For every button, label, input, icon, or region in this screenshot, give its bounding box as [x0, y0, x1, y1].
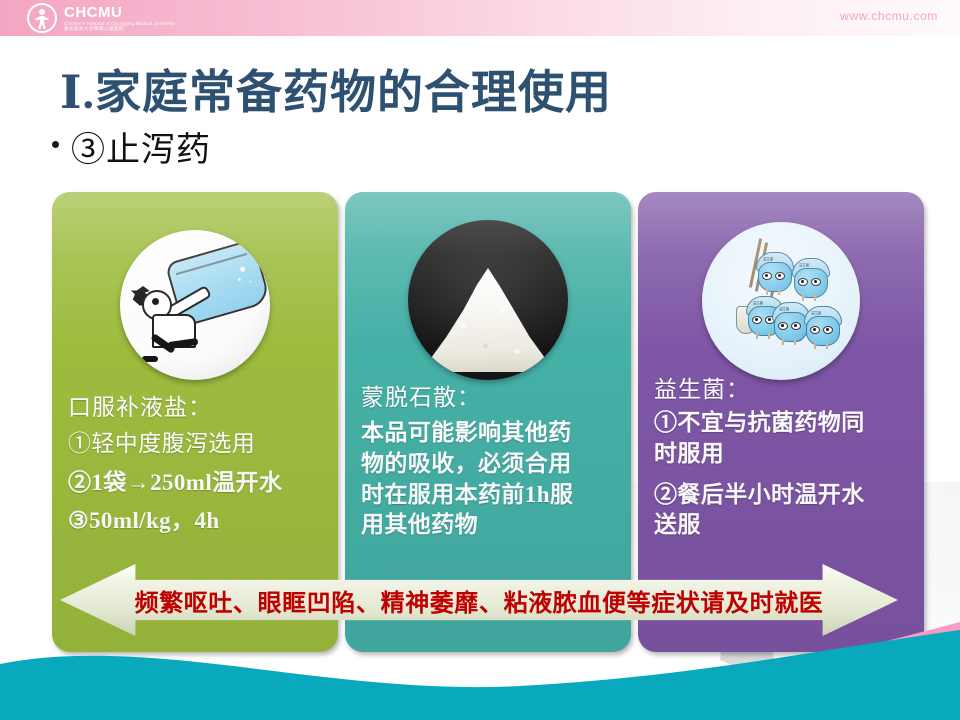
card-heading: 蒙脱石散：	[361, 378, 481, 412]
probiotic-soldiers-icon: 益生菌 益生菌 益生菌 益生菌	[702, 222, 860, 380]
card-line: 送服	[654, 510, 914, 541]
bullet-icon	[52, 141, 59, 148]
logo-sub-text-cn: 重庆医科大学附属儿童医院	[64, 27, 175, 32]
germ: 益生菌	[754, 250, 794, 292]
card-line: 本品可能影响其他药	[361, 418, 621, 449]
site-url: www.chcmu.com	[840, 9, 938, 23]
page-subtitle: ③止泻药	[71, 122, 211, 171]
germ: 益生菌	[790, 256, 830, 298]
germ-group: 益生菌 益生菌 益生菌 益生菌	[702, 222, 860, 380]
card-line: 时在服用本药前1h服	[361, 480, 621, 511]
card-heading: 口服补液盐：	[68, 388, 212, 422]
card-body: ①轻中度腹泻选用 ②1袋→250ml温开水 ③50ml/kg，4h	[68, 428, 328, 544]
slide-root: CHCMU Children's Hospital of Chongqing M…	[0, 0, 960, 720]
card-line: 用其他药物	[361, 510, 621, 541]
card-body: ①不宜与抗菌药物同 时服用 ②餐后半小时温开水 送服	[654, 408, 914, 541]
subtitle-row: ③止泻药	[52, 122, 211, 171]
white-powder-photo	[408, 220, 568, 380]
card-line: ①不宜与抗菌药物同	[654, 408, 914, 439]
banner-warning-text: 频繁呕吐、眼眶凹陷、精神萎靡、粘液脓血便等症状请及时就医	[60, 564, 898, 636]
card-line: ②1袋→250ml温开水	[68, 467, 328, 500]
card-heading: 益生菌：	[654, 370, 750, 404]
header-bar: CHCMU Children's Hospital of Chongqing M…	[0, 0, 960, 36]
card-line: 时服用	[654, 439, 914, 470]
card-line: 物的吸收，必须合用	[361, 449, 621, 480]
card-line: ①轻中度腹泻选用	[68, 428, 328, 461]
person-eye	[152, 298, 159, 305]
logo-main-text: CHCMU	[64, 5, 175, 20]
card-line: ②餐后半小时温开水	[654, 480, 914, 511]
hospital-logo-icon	[27, 3, 57, 33]
hospital-logo: CHCMU Children's Hospital of Chongqing M…	[27, 3, 175, 33]
powder-heap	[427, 268, 549, 372]
page-title: Ⅰ.家庭常备药物的合理使用	[60, 56, 820, 122]
card-line: ③50ml/kg，4h	[68, 505, 328, 538]
person-foot	[142, 356, 158, 362]
card-body: 本品可能影响其他药 物的吸收，必须合用 时在服用本药前1h服 用其他药物	[361, 418, 621, 541]
germ: 益生菌	[802, 304, 842, 346]
child-drinking-water-icon	[120, 230, 270, 380]
